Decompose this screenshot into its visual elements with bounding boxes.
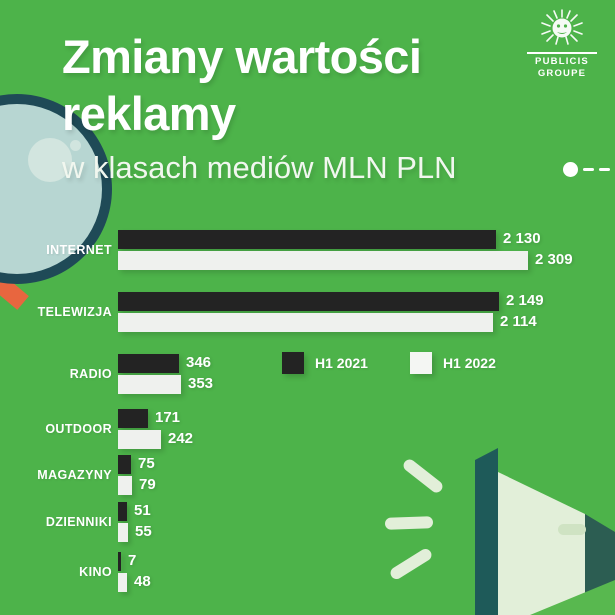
bar-dzienniki-h1-2022 bbox=[118, 523, 128, 542]
bar-value-label: 2 309 bbox=[535, 250, 573, 270]
legend-swatch-h1-2021 bbox=[282, 352, 304, 374]
bar-dzienniki-h1-2021 bbox=[118, 502, 127, 521]
marker-dot bbox=[563, 162, 578, 177]
category-label-telewizja: TELEWIZJA bbox=[38, 305, 112, 319]
bar-value-label: 48 bbox=[134, 572, 151, 592]
bar-value-label: 75 bbox=[138, 454, 155, 474]
category-label-outdoor: OUTDOOR bbox=[45, 422, 112, 436]
category-label-radio: RADIO bbox=[70, 367, 112, 381]
bar-value-label: 171 bbox=[155, 408, 180, 428]
bar-outdoor-h1-2022 bbox=[118, 430, 161, 449]
chart-legend: H1 2021 H1 2022 bbox=[282, 352, 496, 374]
bar-value-label: 51 bbox=[134, 501, 151, 521]
logo-divider bbox=[527, 52, 597, 54]
lion-crest-icon bbox=[533, 8, 591, 50]
bar-value-label: 2 114 bbox=[500, 312, 537, 332]
bar-magazyny-h1-2021 bbox=[118, 455, 131, 474]
bar-telewizja-h1-2022 bbox=[118, 313, 493, 332]
legend-item-h1-2021: H1 2021 bbox=[282, 352, 368, 374]
bar-value-label: 353 bbox=[188, 374, 213, 394]
bar-telewizja-h1-2021 bbox=[118, 292, 499, 311]
category-label-dzienniki: DZIENNIKI bbox=[46, 515, 112, 529]
legend-label-h1-2021: H1 2021 bbox=[315, 355, 368, 371]
bar-value-label: 2 130 bbox=[503, 229, 541, 249]
marker-dash-1 bbox=[583, 168, 594, 171]
bar-value-label: 79 bbox=[139, 475, 156, 495]
bar-internet-h1-2021 bbox=[118, 230, 496, 249]
category-label-kino: KINO bbox=[79, 565, 112, 579]
bar-radio-h1-2022 bbox=[118, 375, 181, 394]
marker-dash-2 bbox=[599, 168, 610, 171]
category-label-internet: INTERNET bbox=[46, 243, 112, 257]
page-subtitle: w klasach mediów MLN PLN bbox=[62, 150, 457, 186]
bar-value-label: 7 bbox=[128, 551, 136, 571]
legend-label-h1-2022: H1 2022 bbox=[443, 355, 496, 371]
bar-internet-h1-2022 bbox=[118, 251, 528, 270]
bar-value-label: 2 149 bbox=[506, 291, 544, 311]
bar-value-label: 346 bbox=[186, 353, 211, 373]
bar-magazyny-h1-2022 bbox=[118, 476, 132, 495]
bar-value-label: 55 bbox=[135, 522, 152, 542]
logo-text-publicis: PUBLICIS bbox=[521, 56, 603, 67]
bar-kino-h1-2021 bbox=[118, 552, 121, 571]
bar-radio-h1-2021 bbox=[118, 354, 179, 373]
category-label-magazyny: MAGAZYNY bbox=[37, 468, 112, 482]
title-line-1: Zmiany wartości bbox=[62, 28, 532, 85]
legend-item-h1-2022: H1 2022 bbox=[410, 352, 496, 374]
bar-outdoor-h1-2021 bbox=[118, 409, 148, 428]
infographic-canvas: PUBLICIS GROUPE Zmiany wartości reklamy … bbox=[0, 0, 615, 615]
bar-value-label: 242 bbox=[168, 429, 193, 449]
publicis-groupe-logo: PUBLICIS GROUPE bbox=[521, 8, 603, 79]
bar-kino-h1-2022 bbox=[118, 573, 127, 592]
dot-dash-marker bbox=[563, 162, 610, 177]
logo-text-groupe: GROUPE bbox=[521, 68, 603, 79]
page-title: Zmiany wartości reklamy bbox=[62, 28, 532, 142]
legend-swatch-h1-2022 bbox=[410, 352, 432, 374]
bar-chart: INTERNET2 1302 309TELEWIZJA2 1492 114RAD… bbox=[0, 222, 615, 602]
title-line-2: reklamy bbox=[62, 85, 532, 142]
